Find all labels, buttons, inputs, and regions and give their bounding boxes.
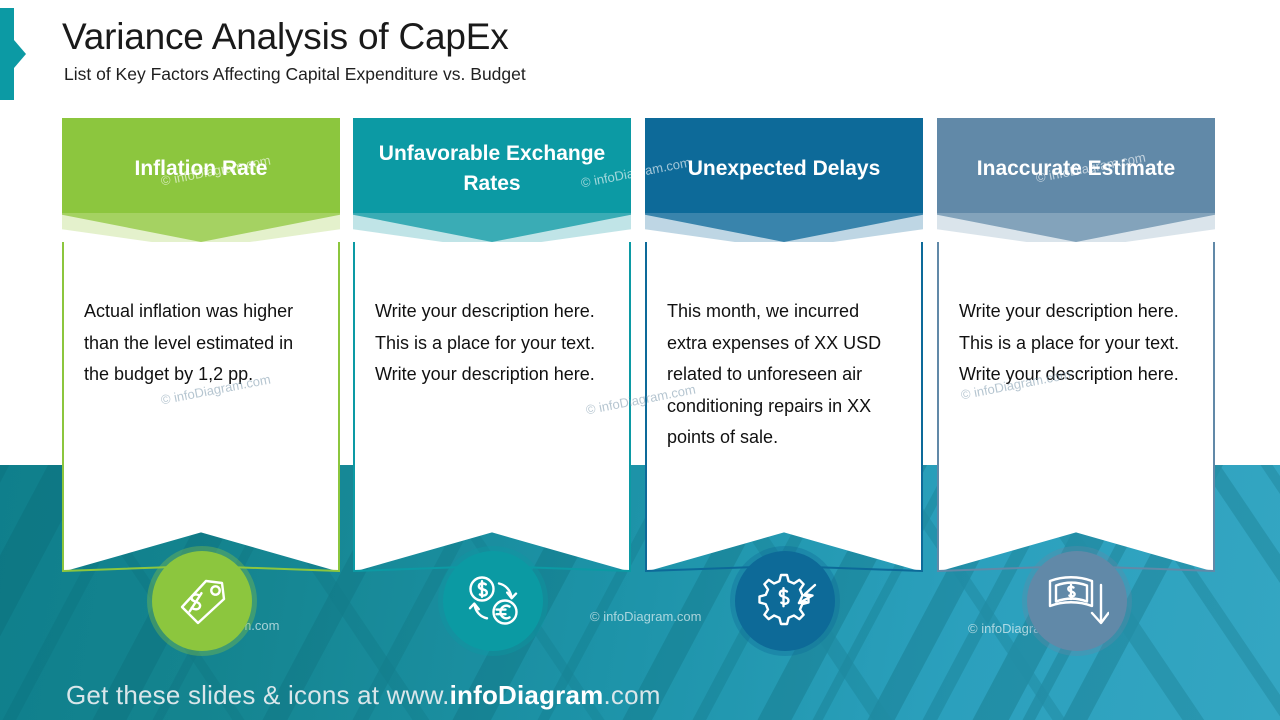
header-accent-arrow-icon xyxy=(14,40,26,68)
factor-card-title: Unfavorable Exchange Rates xyxy=(369,139,615,199)
price-tag-dollar-icon xyxy=(172,571,232,631)
footer-cta-suffix: .com xyxy=(603,680,660,710)
gear-dollar-bolt-icon xyxy=(753,569,817,633)
slide-canvas: Variance Analysis of CapEx List of Key F… xyxy=(0,0,1280,720)
currency-exchange-icon xyxy=(460,568,526,634)
factor-card-icon-badge[interactable] xyxy=(735,551,835,651)
factor-card-icon-badge[interactable] xyxy=(443,551,543,651)
factor-card[interactable]: Unfavorable Exchange RatesWrite your des… xyxy=(353,118,631,572)
factor-card-body: This month, we incurred extra expenses o… xyxy=(645,242,923,572)
factor-card-body: Write your description here. This is a p… xyxy=(937,242,1215,572)
factor-card-description: Write your description here. This is a p… xyxy=(959,296,1193,391)
factor-card-description: This month, we incurred extra expenses o… xyxy=(667,296,901,454)
factor-card[interactable]: Inflation RateActual inflation was highe… xyxy=(62,118,340,572)
factor-card[interactable]: Inaccurate EstimateWrite your descriptio… xyxy=(937,118,1215,572)
footer-cta-prefix: Get these slides & icons at www. xyxy=(66,680,450,710)
factor-card-icon-badge[interactable] xyxy=(1027,551,1127,651)
factor-card-description: Actual inflation was higher than the lev… xyxy=(84,296,318,391)
page-title: Variance Analysis of CapEx xyxy=(62,16,509,58)
factor-card-title: Inflation Rate xyxy=(134,154,267,184)
factor-card-title: Unexpected Delays xyxy=(688,154,881,184)
factor-card-title: Inaccurate Estimate xyxy=(977,154,1175,184)
factor-card-body: Write your description here. This is a p… xyxy=(353,242,631,572)
factor-card-description: Write your description here. This is a p… xyxy=(375,296,609,391)
factor-card-body: Actual inflation was higher than the lev… xyxy=(62,242,340,572)
banknote-down-arrow-icon xyxy=(1045,572,1109,630)
factor-card[interactable]: Unexpected DelaysThis month, we incurred… xyxy=(645,118,923,572)
factor-card-icon-badge[interactable] xyxy=(152,551,252,651)
page-subtitle: List of Key Factors Affecting Capital Ex… xyxy=(64,64,526,85)
footer-cta-brand: infoDiagram xyxy=(450,680,604,710)
header-accent-bar xyxy=(0,8,14,100)
footer-cta[interactable]: Get these slides & icons at www.infoDiag… xyxy=(66,680,661,711)
